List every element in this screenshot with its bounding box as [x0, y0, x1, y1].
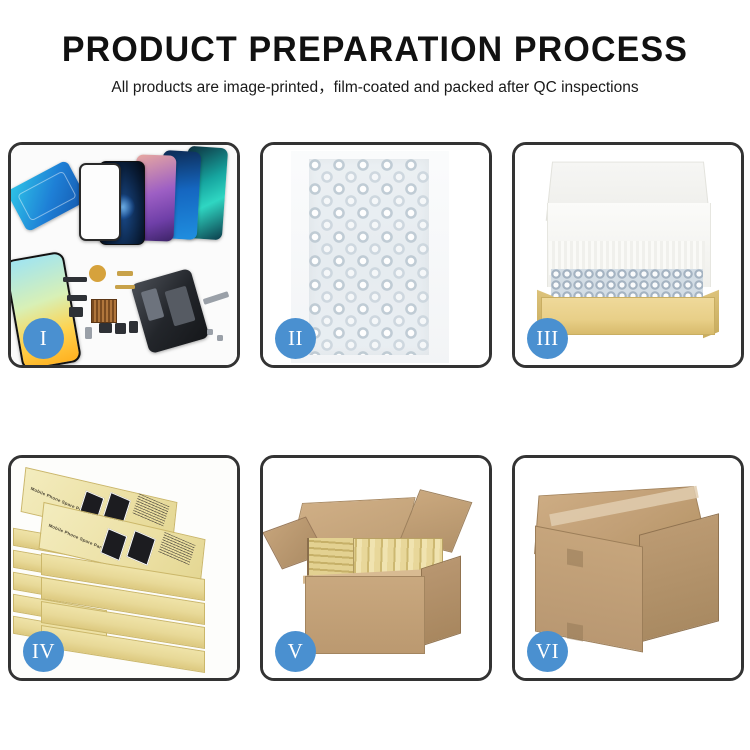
box-thumbnail-2a — [100, 528, 127, 561]
carton-side-panel — [421, 556, 461, 647]
box-spec-lines-2 — [158, 532, 195, 565]
box-front-panel — [541, 297, 715, 335]
bubble-texture — [309, 159, 429, 355]
page-subtitle: All products are image-printed，film-coat… — [0, 77, 750, 99]
tweezers-tool — [203, 291, 230, 305]
box-thumbnail-2b — [126, 530, 156, 566]
spare-part-flex-2 — [115, 285, 135, 289]
spare-part-strip-1 — [63, 277, 87, 282]
carton-hand-hole-top — [567, 548, 583, 567]
spare-part-coil — [89, 265, 106, 282]
box-label-text-2: Mobile Phone Spare Parts — [48, 523, 106, 552]
box-spec-lines-1 — [132, 493, 169, 526]
spare-part-speaker — [99, 323, 112, 333]
process-steps-grid: I II III — [8, 142, 744, 681]
carton-right-face — [639, 513, 719, 642]
step-badge-4: IV — [23, 631, 64, 672]
spare-part-connector-1 — [67, 295, 87, 301]
phone-glass-screen-protector — [79, 163, 121, 241]
page-header: PRODUCT PREPARATION PROCESS All products… — [0, 0, 750, 99]
bubble-wrap-sheet — [309, 159, 429, 355]
carton-hand-hole-bottom — [567, 622, 583, 641]
step-badge-6: VI — [527, 631, 568, 672]
spare-part-connector-2 — [69, 307, 83, 317]
screw-1 — [207, 329, 213, 335]
step-panel-3: III — [512, 142, 744, 368]
step-panel-1: I — [8, 142, 240, 368]
phone-teardown-back-panel — [130, 268, 209, 354]
step-badge-1: I — [23, 318, 64, 359]
step-panel-2: II — [260, 142, 492, 368]
step-panel-6: VI — [512, 455, 744, 681]
step-badge-3: III — [527, 318, 568, 359]
chip-component — [91, 299, 117, 323]
spare-part-button — [129, 321, 138, 333]
step-badge-2: II — [275, 318, 316, 359]
carton-front-panel — [305, 576, 425, 654]
phone-back-cover-teal — [11, 160, 88, 233]
step-panel-4: Mobile Phone Spare Parts Mobile Phone Sp… — [8, 455, 240, 681]
screw-2 — [217, 335, 223, 341]
spare-part-sim-tray — [85, 327, 92, 339]
step-badge-5: V — [275, 631, 316, 672]
spare-part-flex-1 — [117, 271, 133, 276]
step-panel-5: V — [260, 455, 492, 681]
page-title: PRODUCT PREPARATION PROCESS — [11, 30, 739, 70]
spare-part-camera — [115, 323, 126, 334]
